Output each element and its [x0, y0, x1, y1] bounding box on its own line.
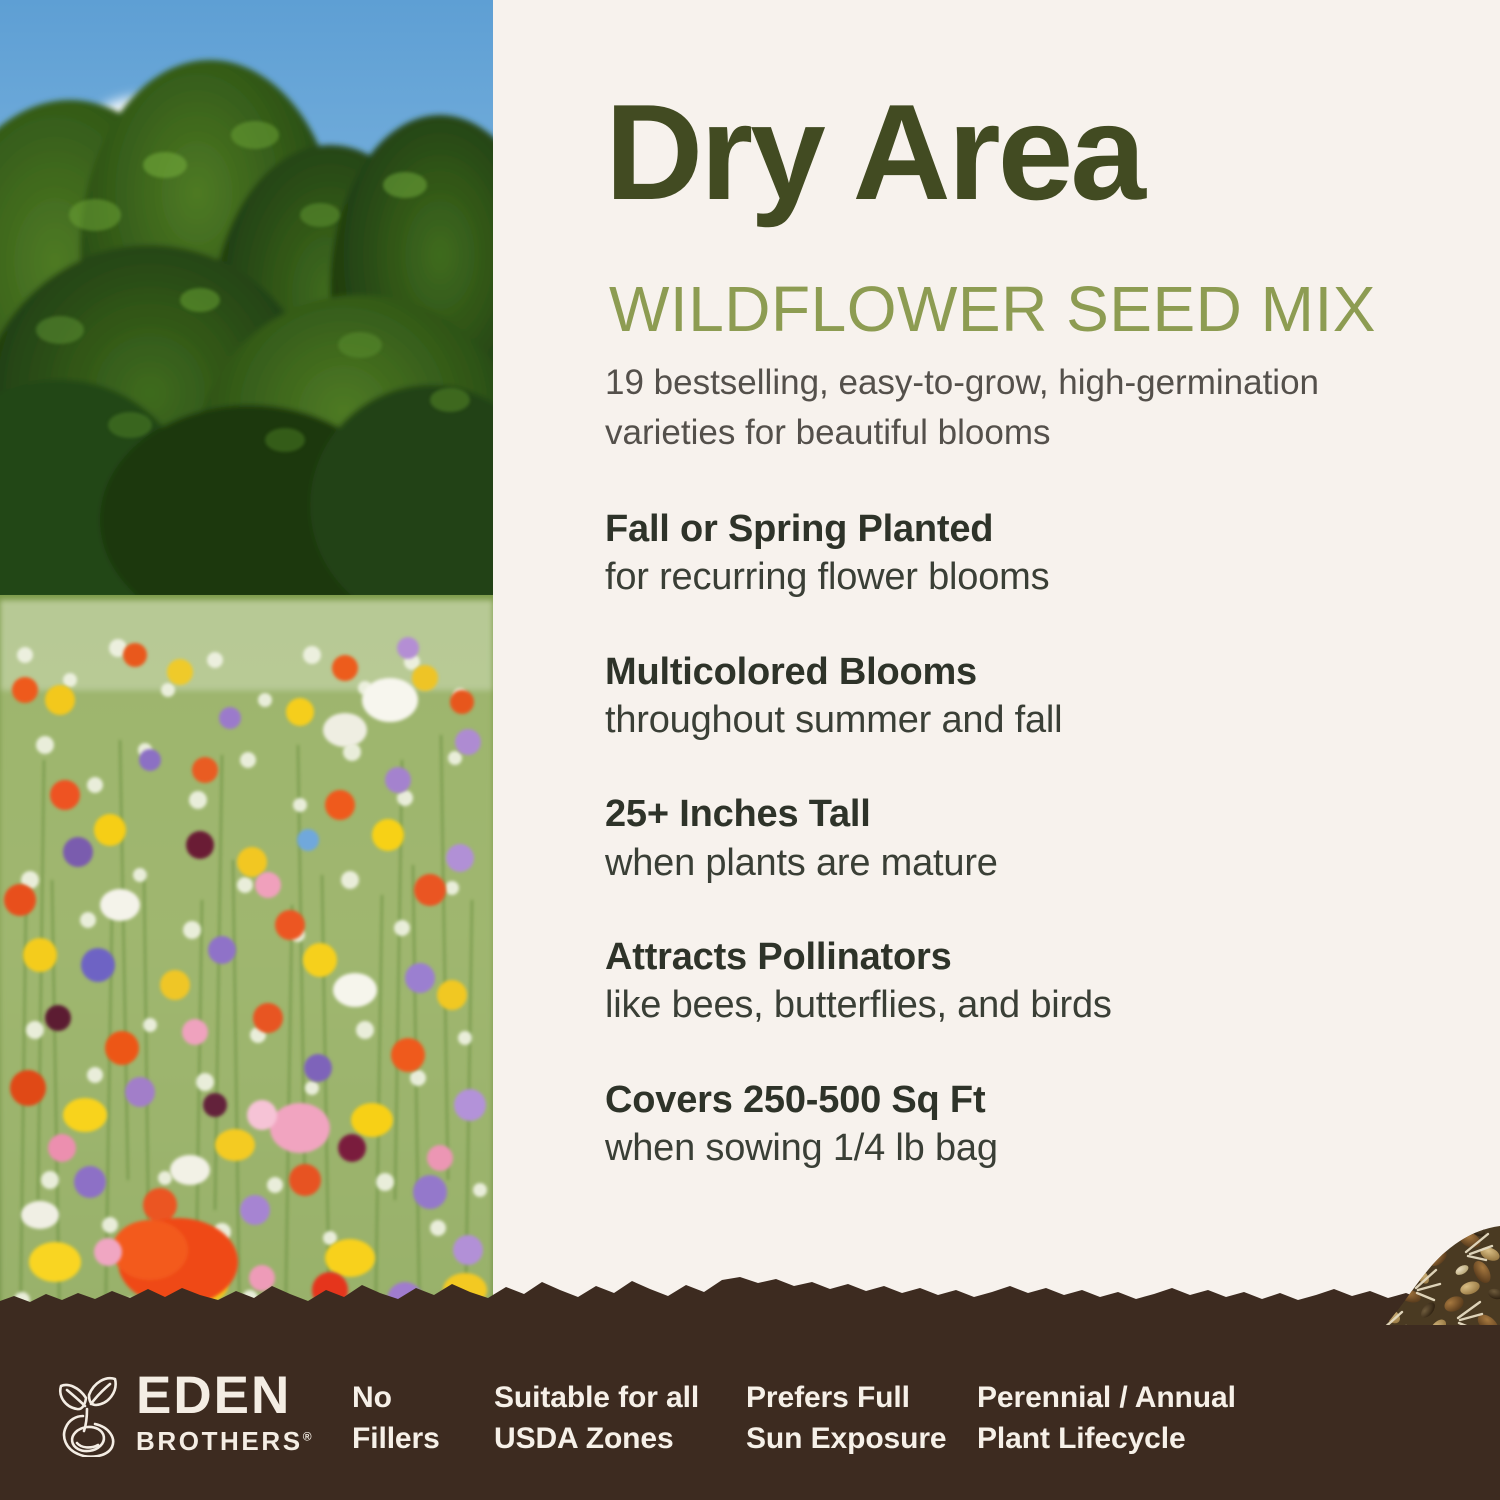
brand-logo[interactable]: EDEN BROTHERS®	[55, 1365, 314, 1457]
badge-sun-exposure: Prefers Full Sun Exposure	[746, 1377, 947, 1460]
content-panel: Dry Area WILDFLOWER SEED MIX 19 bestsell…	[493, 0, 1500, 1348]
page-title: Dry Area	[605, 84, 1143, 220]
footer-content: EDEN BROTHERS® No Fillers Suitable for a…	[0, 1325, 1500, 1500]
feature-subtitle: throughout summer and fall	[605, 696, 1405, 745]
brand-name-eden: EDEN	[136, 1369, 314, 1422]
brand-brothers-text: BROTHERS	[136, 1426, 303, 1456]
badge-line-2: Fillers	[352, 1418, 440, 1459]
feature-title: Multicolored Blooms	[605, 649, 1405, 696]
badge-line-1: Suitable for all	[494, 1377, 699, 1418]
badge-no-fillers: No Fillers	[352, 1377, 440, 1460]
feature-item: 25+ Inches Tall when plants are mature	[605, 791, 1405, 887]
badge-line-2: USDA Zones	[494, 1418, 699, 1459]
brand-wordmark: EDEN BROTHERS®	[136, 1369, 314, 1454]
badge-line-2: Plant Lifecycle	[977, 1418, 1236, 1459]
feature-list: Fall or Spring Planted for recurring flo…	[605, 506, 1405, 1173]
brand-name-brothers: BROTHERS®	[136, 1428, 314, 1454]
badge-line-1: Perennial / Annual	[977, 1377, 1236, 1418]
wildflower-meadow-photo	[0, 0, 493, 1348]
feature-item: Covers 250-500 Sq Ft when sowing 1/4 lb …	[605, 1077, 1405, 1173]
badge-line-1: No	[352, 1377, 440, 1418]
feature-subtitle: when plants are mature	[605, 839, 1405, 888]
feature-subtitle: when sowing 1/4 lb bag	[605, 1124, 1405, 1173]
footer-bar: EDEN BROTHERS® No Fillers Suitable for a…	[0, 1325, 1500, 1500]
feature-item: Attracts Pollinators like bees, butterfl…	[605, 934, 1405, 1030]
meadow-illustration	[0, 0, 493, 1348]
torn-soil-edge	[0, 1255, 1500, 1325]
feature-title: Fall or Spring Planted	[605, 506, 1405, 553]
registered-trademark-icon: ®	[303, 1429, 314, 1443]
product-infographic: Dry Area WILDFLOWER SEED MIX 19 bestsell…	[0, 0, 1500, 1500]
product-description: 19 bestselling, easy-to-grow, high-germi…	[605, 358, 1395, 457]
footer-badges: No Fillers Suitable for all USDA Zones P…	[352, 1377, 1452, 1467]
feature-subtitle: for recurring flower blooms	[605, 553, 1405, 602]
badge-line-2: Sun Exposure	[746, 1418, 947, 1459]
feature-title: Covers 250-500 Sq Ft	[605, 1077, 1405, 1124]
feature-item: Fall or Spring Planted for recurring flo…	[605, 506, 1405, 602]
badge-line-1: Prefers Full	[746, 1377, 947, 1418]
feature-title: Attracts Pollinators	[605, 934, 1405, 981]
seedling-sprout-icon	[55, 1365, 123, 1457]
feature-item: Multicolored Blooms throughout summer an…	[605, 649, 1405, 745]
feature-subtitle: like bees, butterflies, and birds	[605, 981, 1405, 1030]
feature-title: 25+ Inches Tall	[605, 791, 1405, 838]
badge-plant-lifecycle: Perennial / Annual Plant Lifecycle	[977, 1377, 1236, 1460]
badge-usda-zones: Suitable for all USDA Zones	[494, 1377, 699, 1460]
product-subtitle: WILDFLOWER SEED MIX	[609, 277, 1376, 341]
